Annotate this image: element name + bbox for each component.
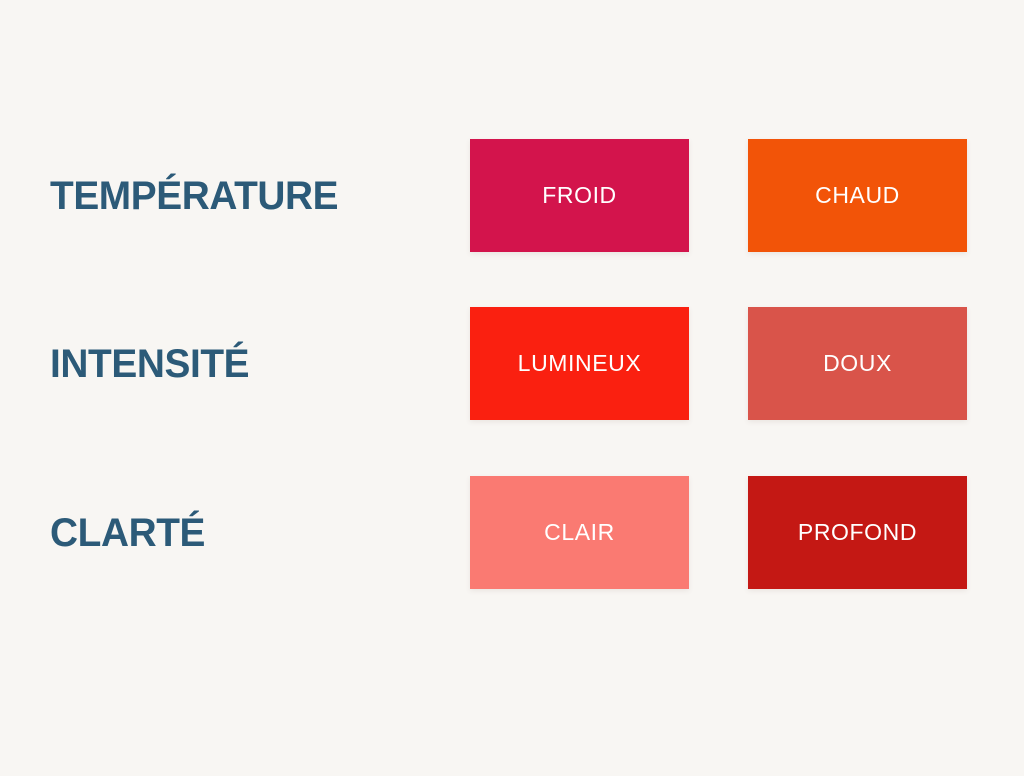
row-label-text: INTENSITÉ <box>50 344 249 384</box>
swatch-chaud[interactable]: CHAUD <box>748 139 967 252</box>
swatch-label-froid: FROID <box>542 184 617 207</box>
swatch-doux[interactable]: DOUX <box>748 307 967 420</box>
color-attribute-board: TEMPÉRATURE FROID CHAUD INTENSITÉ LUMINE… <box>0 0 1024 776</box>
attribute-row-clarte: CLARTÉ CLAIR PROFOND <box>0 476 1024 589</box>
swatch-label-clair: CLAIR <box>544 521 615 544</box>
swatch-label-doux: DOUX <box>823 352 892 375</box>
swatch-profond[interactable]: PROFOND <box>748 476 967 589</box>
swatch-froid[interactable]: FROID <box>470 139 689 252</box>
row-label-clarte: CLARTÉ <box>50 476 210 589</box>
attribute-row-intensite: INTENSITÉ LUMINEUX DOUX <box>0 307 1024 420</box>
swatch-clair[interactable]: CLAIR <box>470 476 689 589</box>
row-label-intensite: INTENSITÉ <box>50 307 255 420</box>
swatch-label-chaud: CHAUD <box>815 184 900 207</box>
swatch-label-lumineux: LUMINEUX <box>518 352 642 375</box>
row-label-text: CLARTÉ <box>50 513 205 553</box>
row-label-text: TEMPÉRATURE <box>50 176 338 216</box>
swatch-label-profond: PROFOND <box>798 521 917 544</box>
attribute-row-temperature: TEMPÉRATURE FROID CHAUD <box>0 139 1024 252</box>
row-label-temperature: TEMPÉRATURE <box>50 139 347 252</box>
swatch-lumineux[interactable]: LUMINEUX <box>470 307 689 420</box>
